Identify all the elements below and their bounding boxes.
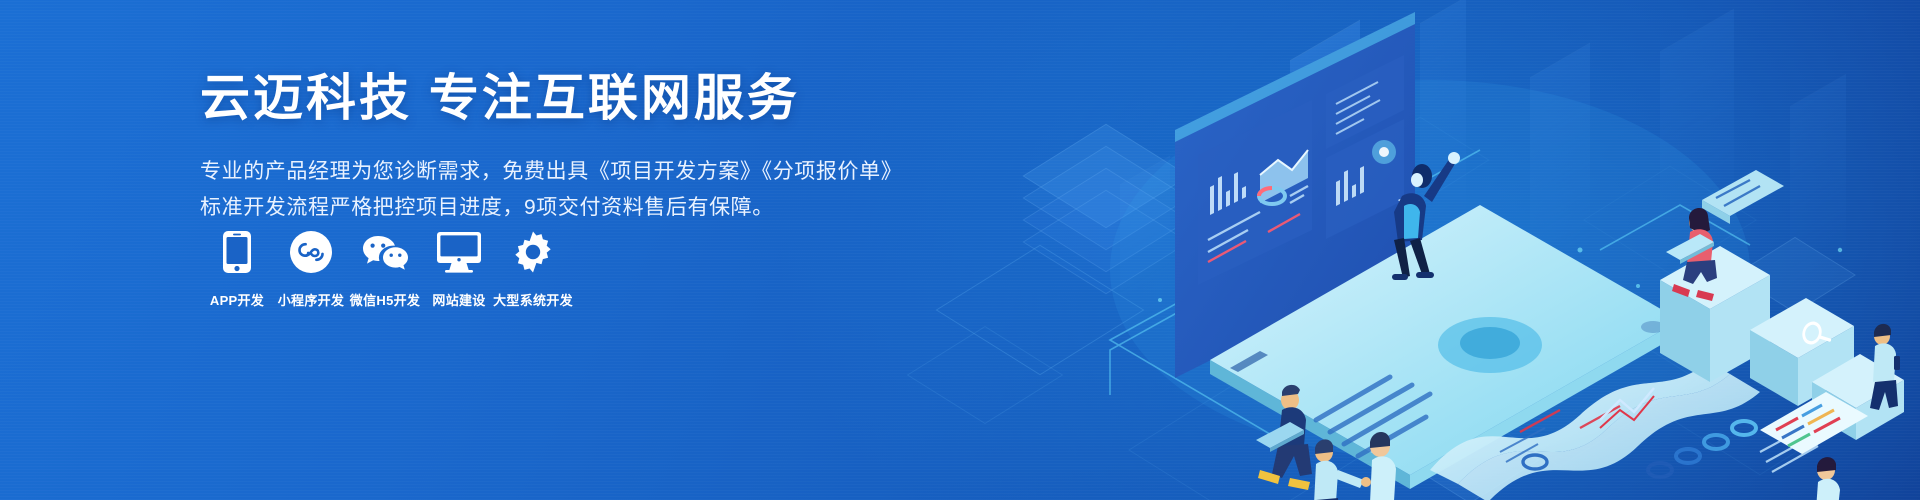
- service-item-app[interactable]: APP开发: [200, 228, 274, 309]
- page-title: 云迈科技 专注互联网服务: [200, 68, 980, 128]
- person-front-left-a: [1310, 439, 1371, 500]
- phone-platform: [1210, 205, 1680, 489]
- mobile-phone-icon: [222, 228, 252, 276]
- service-item-website[interactable]: 网站建设: [422, 228, 496, 309]
- person-front-left-b: [1366, 432, 1398, 500]
- service-label: 小程序开发: [278, 290, 345, 309]
- service-label: APP开发: [210, 290, 264, 309]
- step-blocks: [1660, 170, 1904, 454]
- person-far-right: [1816, 457, 1840, 500]
- mini-program-icon: [289, 228, 333, 276]
- person-sitting-laptop: [1256, 385, 1312, 490]
- monitor-icon: [436, 228, 482, 276]
- hero-banner: 云迈科技 专注互联网服务 专业的产品经理为您诊断需求，免费出具《项目开发方案》《…: [0, 0, 1920, 500]
- subtitle-line-1: 专业的产品经理为您诊断需求，免费出具《项目开发方案》《分项报价单》: [200, 154, 980, 190]
- person-right-blocks: [1870, 324, 1900, 410]
- person-presenter: [1392, 152, 1460, 280]
- service-item-wechat-h5[interactable]: 微信H5开发: [348, 228, 422, 309]
- service-label: 微信H5开发: [350, 290, 420, 309]
- gear-icon: [511, 228, 555, 276]
- dashboard-screen: [1175, 12, 1415, 378]
- service-item-large-system[interactable]: 大型系统开发: [496, 228, 570, 309]
- service-list: APP开发 小程序开发: [200, 228, 570, 309]
- service-label: 大型系统开发: [493, 290, 573, 309]
- banner-content: 云迈科技 专注互联网服务 专业的产品经理为您诊断需求，免费出具《项目开发方案》《…: [200, 68, 980, 226]
- wechat-icon: [360, 228, 410, 276]
- report-sheet: [1430, 362, 1818, 500]
- banner-subtitle: 专业的产品经理为您诊断需求，免费出具《项目开发方案》《分项报价单》 标准开发流程…: [200, 154, 980, 226]
- person-seated-pedestal: [1666, 208, 1717, 301]
- service-label: 网站建设: [432, 290, 485, 309]
- subtitle-line-2: 标准开发流程严格把控项目进度，9项交付资料售后有保障。: [200, 190, 980, 226]
- isometric-illustration: [960, 0, 1920, 500]
- service-item-miniprogram[interactable]: 小程序开发: [274, 228, 348, 309]
